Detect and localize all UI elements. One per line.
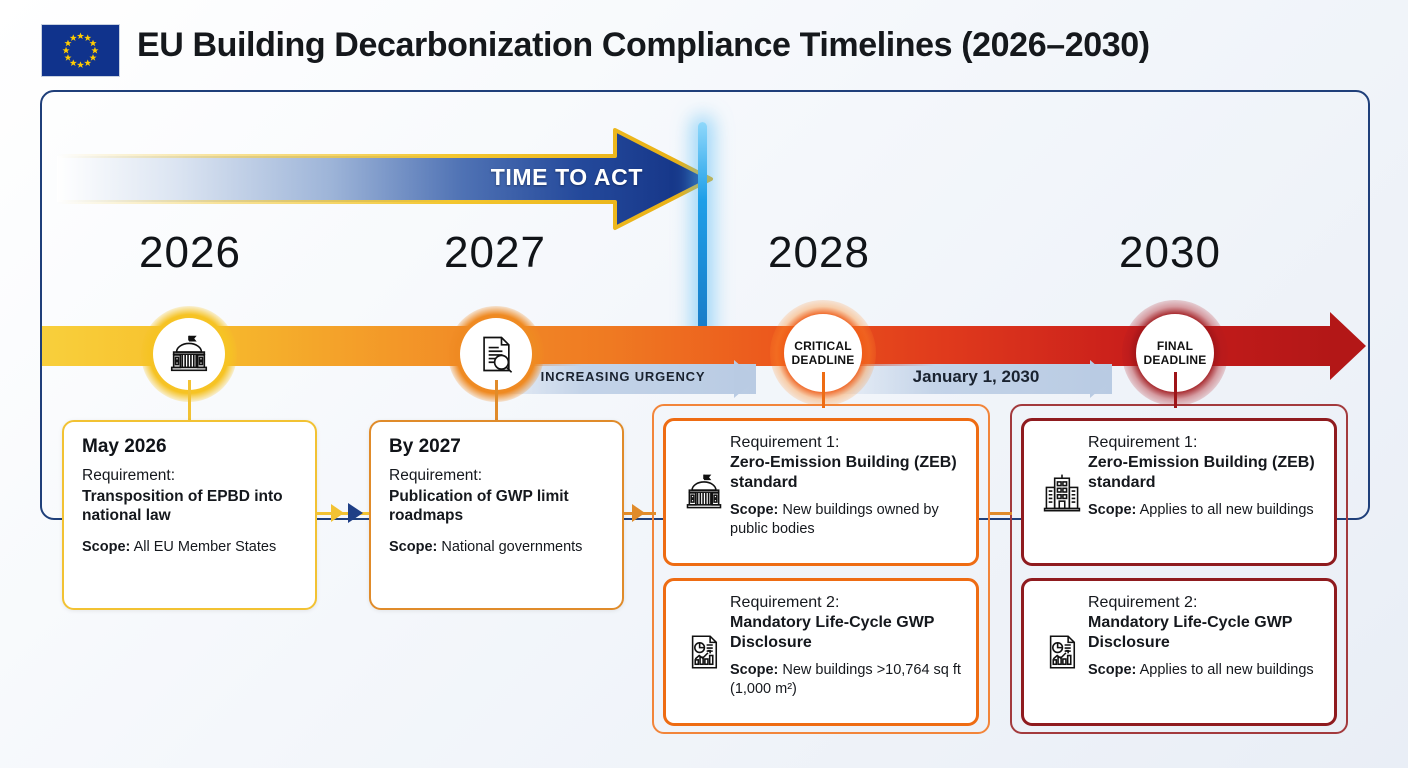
requirement-scope: Scope: New buildings owned by public bod… <box>730 501 962 537</box>
january-2030-label: January 1, 2030 <box>840 367 1112 387</box>
year-label-2027: 2027 <box>405 228 585 278</box>
requirement-icon <box>678 593 730 711</box>
card-scope: Scope: All EU Member States <box>82 538 299 556</box>
requirement-label: Requirement: <box>82 467 175 484</box>
timeline-arrowhead-icon <box>1330 312 1366 380</box>
requirement-value: Zero-Emission Building (ZEB) standard <box>730 453 962 493</box>
scope-label: Scope: <box>82 539 130 555</box>
requirement-icon <box>1036 433 1088 551</box>
report-chart-icon <box>683 631 725 673</box>
connector-2027 <box>495 380 498 420</box>
requirement-icon <box>678 433 730 551</box>
requirement-card[interactable]: Requirement 2: Mandatory Life-Cycle GWP … <box>1021 578 1337 726</box>
group-stem-2028 <box>822 372 825 408</box>
requirement-value: Publication of GWP limit roadmaps <box>389 487 606 526</box>
scope-label: Scope: <box>1088 662 1136 678</box>
document-search-icon <box>474 332 518 376</box>
requirement-label: Requirement 1: <box>1088 434 1197 451</box>
requirement-icon <box>1036 593 1088 711</box>
office-building-icon <box>1040 470 1084 514</box>
milestone-card-2026[interactable]: May 2026 Requirement: Transposition of E… <box>62 420 317 610</box>
group-stem-2030 <box>1174 372 1177 408</box>
scope-value: All EU Member States <box>134 539 277 555</box>
page-title: EU Building Decarbonization Compliance T… <box>137 26 1150 65</box>
requirement-scope: Scope: New buildings >10,764 sq ft (1,00… <box>730 661 962 697</box>
requirement-title: Requirement 2: Mandatory Life-Cycle GWP … <box>1088 593 1320 652</box>
card-heading: May 2026 <box>82 436 315 458</box>
card-requirement: Requirement: Transposition of EPBD into … <box>82 466 299 526</box>
requirement-scope: Scope: Applies to all new buildings <box>1088 501 1320 519</box>
page-header: EU Building Decarbonization Compliance T… <box>0 0 1408 90</box>
right-arrow-icon <box>331 504 344 522</box>
government-building-icon <box>166 331 212 377</box>
requirement-value: Zero-Emission Building (ZEB) standard <box>1088 453 1320 493</box>
scope-label: Scope: <box>730 502 778 518</box>
january-2030-arrow: January 1, 2030 <box>840 364 1112 394</box>
requirement-title: Requirement 2: Mandatory Life-Cycle GWP … <box>730 593 962 652</box>
requirement-card[interactable]: Requirement 1: Zero-Emission Building (Z… <box>663 418 979 566</box>
requirement-card[interactable]: Requirement 1: Zero-Emission Building (Z… <box>1021 418 1337 566</box>
final-deadline-label: FINALDEADLINE <box>1144 339 1207 367</box>
scope-value: Applies to all new buildings <box>1140 662 1314 678</box>
milestone-card-2027[interactable]: By 2027 Requirement: Publication of GWP … <box>369 420 624 610</box>
right-arrow-icon <box>348 503 363 523</box>
government-building-icon <box>682 470 726 514</box>
scope-label: Scope: <box>1088 502 1136 518</box>
scope-prefix: New buildings <box>782 662 872 678</box>
time-to-act-label: TIME TO ACT <box>491 164 643 191</box>
time-to-act-arrow: TIME TO ACT <box>55 126 715 232</box>
requirement-label: Requirement 1: <box>730 434 839 451</box>
scope-value: Applies to all new buildings <box>1140 502 1314 518</box>
scope-value: National governments <box>441 539 582 555</box>
connector-2026 <box>188 380 191 420</box>
report-chart-icon <box>1041 631 1083 673</box>
requirement-label: Requirement 2: <box>730 594 839 611</box>
requirement-title: Requirement 1: Zero-Emission Building (Z… <box>1088 433 1320 492</box>
requirement-value: Mandatory Life-Cycle GWP Disclosure <box>730 613 962 653</box>
eu-flag-icon <box>41 24 120 77</box>
requirement-title: Requirement 1: Zero-Emission Building (Z… <box>730 433 962 492</box>
scope-label: Scope: <box>730 662 778 678</box>
year-label-2028: 2028 <box>729 228 909 278</box>
now-marker-line <box>698 122 707 344</box>
card-heading: By 2027 <box>389 436 622 458</box>
requirement-label: Requirement: <box>389 467 482 484</box>
critical-deadline-label: CRITICALDEADLINE <box>792 339 855 367</box>
link-line-2028-2030 <box>990 512 1012 515</box>
card-scope: Scope: National governments <box>389 538 606 556</box>
requirement-value: Mandatory Life-Cycle GWP Disclosure <box>1088 613 1320 653</box>
year-label-2030: 2030 <box>1080 228 1260 278</box>
card-requirement: Requirement: Publication of GWP limit ro… <box>389 466 606 526</box>
requirement-scope: Scope: Applies to all new buildings <box>1088 661 1320 679</box>
year-label-2026: 2026 <box>100 228 280 278</box>
requirement-card[interactable]: Requirement 2: Mandatory Life-Cycle GWP … <box>663 578 979 726</box>
requirement-value: Transposition of EPBD into national law <box>82 487 299 526</box>
right-arrow-icon <box>632 504 645 522</box>
scope-label: Scope: <box>389 539 437 555</box>
requirement-label: Requirement 2: <box>1088 594 1197 611</box>
